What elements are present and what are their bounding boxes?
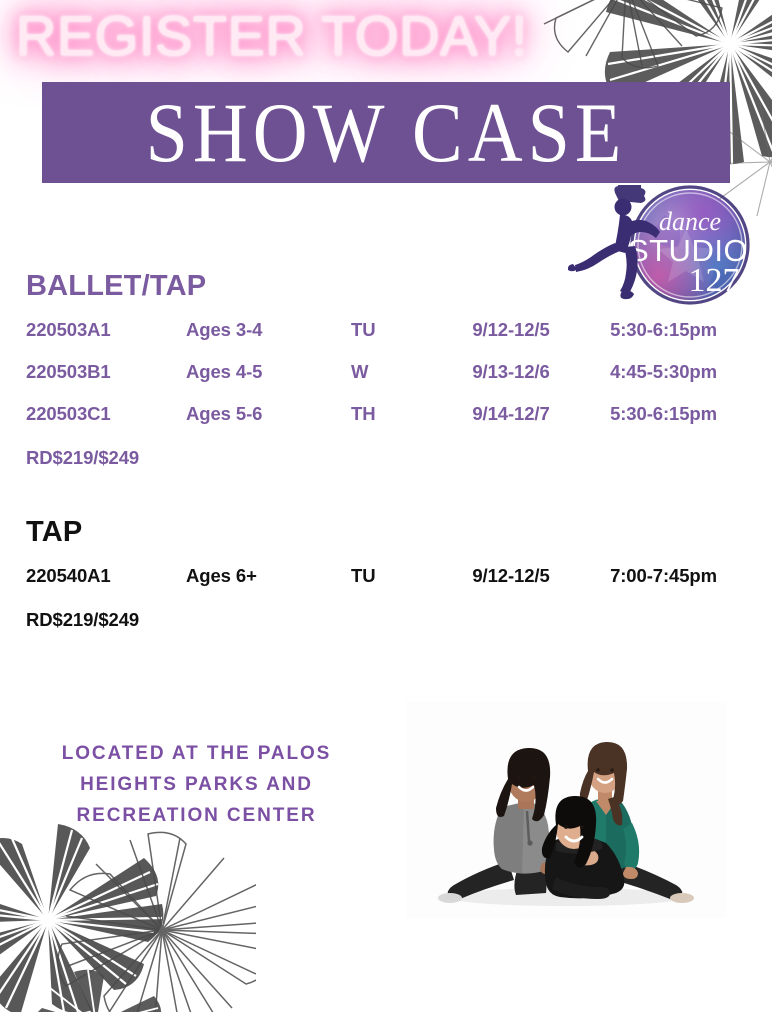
register-today-headline: REGISTER TODAY! <box>16 2 536 70</box>
location-line-2: HEIGHTS PARKS AND <box>24 769 369 800</box>
class-time: 7:00-7:45pm <box>581 565 746 587</box>
class-day: TH <box>351 403 441 425</box>
register-today-text: REGISTER TODAY! <box>16 2 536 70</box>
class-day: TU <box>351 565 441 587</box>
starburst-decoration-bottom-left <box>0 802 256 1012</box>
class-code: 220540A1 <box>26 565 186 587</box>
class-code: 220503B1 <box>26 361 186 383</box>
table-row: 220503B1 Ages 4-5 W 9/13-12/6 4:45-5:30p… <box>26 361 746 403</box>
section-ballet-tap: BALLET/TAP 220503A1 Ages 3-4 TU 9/12-12/… <box>26 272 746 469</box>
class-day: TU <box>351 319 441 341</box>
group-photo <box>406 701 727 918</box>
class-code: 220503A1 <box>26 319 186 341</box>
class-time: 5:30-6:15pm <box>581 403 746 425</box>
class-dates: 9/12-12/5 <box>441 565 581 587</box>
table-row: 220503C1 Ages 5-6 TH 9/14-12/7 5:30-6:15… <box>26 403 746 445</box>
photo-inner-white-mat <box>406 701 727 918</box>
flyer-canvas: REGISTER TODAY! SHOW CASE <box>0 0 772 1012</box>
logo-script-word: dance <box>659 207 721 236</box>
showcase-title: SHOW CASE <box>146 90 627 175</box>
table-row: 220503A1 Ages 3-4 TU 9/12-12/5 5:30-6:15… <box>26 319 746 361</box>
class-ages: Ages 3-4 <box>186 319 351 341</box>
class-day: W <box>351 361 441 383</box>
location-block: LOCATED AT THE PALOS HEIGHTS PARKS AND R… <box>24 738 369 831</box>
showcase-banner: SHOW CASE <box>42 82 730 183</box>
class-time: 4:45-5:30pm <box>581 361 746 383</box>
section-title-tap: TAP <box>26 518 746 547</box>
section-title-ballet-tap: BALLET/TAP <box>26 272 746 301</box>
class-ages: Ages 5-6 <box>186 403 351 425</box>
class-dates: 9/12-12/5 <box>441 319 581 341</box>
photo-gradient-frame <box>383 681 750 938</box>
section-price-tap: RD$219/$249 <box>26 609 746 631</box>
class-code: 220503C1 <box>26 403 186 425</box>
class-time: 5:30-6:15pm <box>581 319 746 341</box>
location-line-1: LOCATED AT THE PALOS <box>24 738 369 769</box>
section-price-ballet-tap: RD$219/$249 <box>26 447 746 469</box>
class-dates: 9/14-12/7 <box>441 403 581 425</box>
class-dates: 9/13-12/6 <box>441 361 581 383</box>
location-line-3: RECREATION CENTER <box>24 800 369 831</box>
class-ages: Ages 4-5 <box>186 361 351 383</box>
table-row: 220540A1 Ages 6+ TU 9/12-12/5 7:00-7:45p… <box>26 565 746 607</box>
section-tap: TAP 220540A1 Ages 6+ TU 9/12-12/5 7:00-7… <box>26 518 746 631</box>
class-ages: Ages 6+ <box>186 565 351 587</box>
